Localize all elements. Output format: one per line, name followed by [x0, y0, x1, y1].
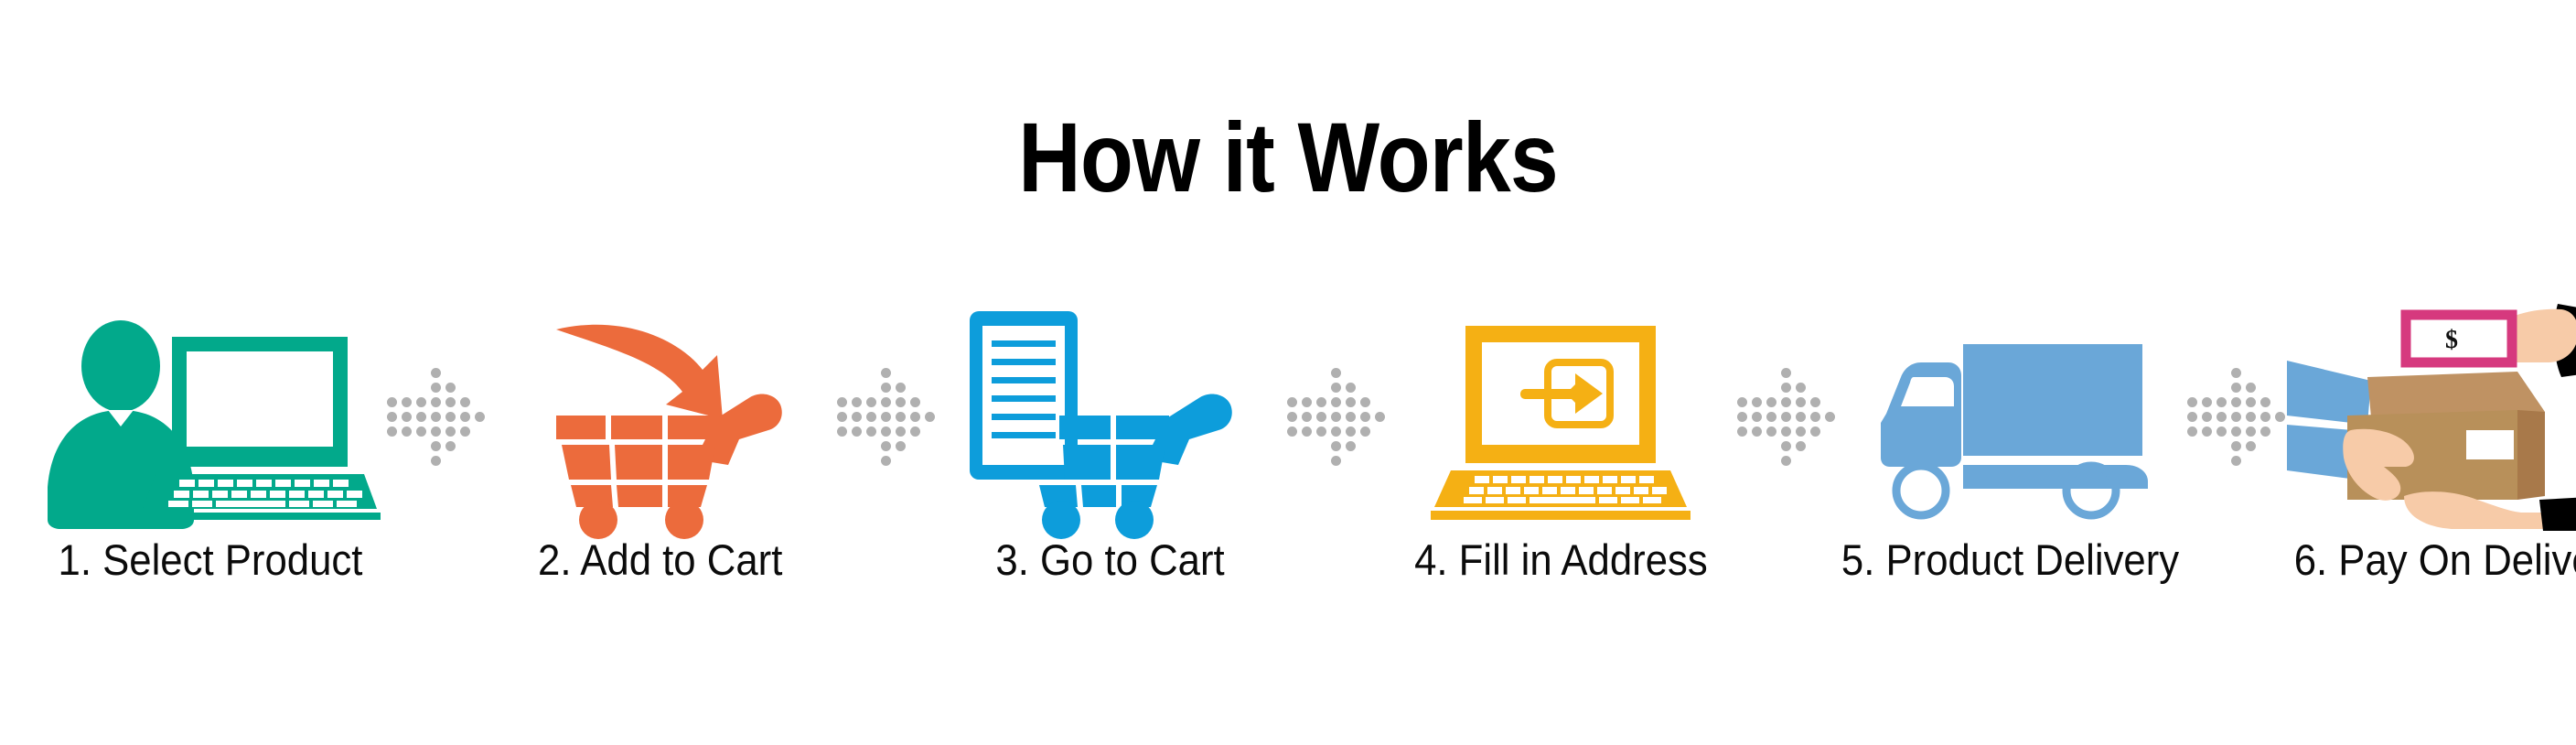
arrow-dot	[1346, 426, 1356, 437]
arrow-dot	[837, 412, 847, 422]
arrow-dot	[881, 441, 891, 451]
arrow-dot-empty	[387, 456, 397, 466]
arrow-dot	[416, 426, 426, 437]
arrow-dot	[896, 397, 906, 407]
arrow-dot	[416, 397, 426, 407]
laptop-with-submit-arrow-icon	[1387, 302, 1734, 531]
arrow-dot-empty	[445, 456, 456, 466]
arrow-dot-empty	[1825, 368, 1835, 378]
arrow-dot	[1781, 383, 1791, 393]
arrow-dot	[1796, 383, 1806, 393]
arrow-dot	[2202, 397, 2212, 407]
arrow-dot-empty	[925, 368, 935, 378]
arrow-dot	[2231, 412, 2241, 422]
arrow-dot	[896, 412, 906, 422]
arrow-dot-empty	[1375, 456, 1385, 466]
arrow-dot-empty	[2187, 441, 2197, 451]
arrow-dot-empty	[852, 368, 862, 378]
arrow-dot	[2231, 383, 2241, 393]
arrow-dot	[387, 412, 397, 422]
arrow-dot-empty	[387, 368, 397, 378]
arrow-dot	[1302, 412, 1312, 422]
arrow-dot-empty	[1737, 383, 1747, 393]
arrow-dot	[445, 397, 456, 407]
arrow-dot	[387, 426, 397, 437]
arrow-dot-empty	[837, 368, 847, 378]
arrow-dot-empty	[2275, 456, 2285, 466]
dotted-arrow-right-icon	[2184, 365, 2287, 468]
arrow-dot	[837, 397, 847, 407]
arrow-dot-empty	[925, 456, 935, 466]
arrow-dot-empty	[837, 441, 847, 451]
arrow-dot-empty	[2187, 383, 2197, 393]
connector-2	[834, 302, 937, 531]
arrow-dot-empty	[1316, 368, 1326, 378]
arrow-dot	[1346, 397, 1356, 407]
arrow-dot-empty	[416, 368, 426, 378]
arrow-dot	[1766, 412, 1776, 422]
arrow-dot-empty	[2260, 383, 2270, 393]
arrow-dot	[1331, 426, 1341, 437]
arrow-dot	[402, 397, 412, 407]
steps-strip: 1. Select Product	[37, 302, 2539, 632]
arrow-dot-empty	[866, 383, 876, 393]
arrow-dot-empty	[925, 383, 935, 393]
arrow-dot-empty	[460, 441, 470, 451]
step-4-fill-in-address[interactable]: 4. Fill in Address	[1387, 302, 1734, 581]
arrow-dot	[1331, 397, 1341, 407]
arrow-dot	[2187, 412, 2197, 422]
arrow-dot-empty	[2275, 368, 2285, 378]
arrow-dot	[881, 412, 891, 422]
arrow-dot	[1302, 397, 1312, 407]
arrow-dot-empty	[460, 456, 470, 466]
arrow-dot-empty	[387, 383, 397, 393]
arrow-dot	[431, 397, 441, 407]
document-with-cart-icon	[937, 302, 1284, 531]
arrow-dot-empty	[1796, 368, 1806, 378]
arrow-dot-empty	[2202, 383, 2212, 393]
arrow-dot	[910, 426, 920, 437]
arrow-dot-empty	[445, 368, 456, 378]
arrow-dot-empty	[2216, 456, 2227, 466]
arrow-dot-empty	[2275, 441, 2285, 451]
arrow-dot-empty	[1287, 441, 1297, 451]
arrow-dot	[896, 441, 906, 451]
arrow-dot	[1316, 412, 1326, 422]
arrow-dot	[1737, 412, 1747, 422]
arrow-dot-empty	[1302, 456, 1312, 466]
arrow-dot-empty	[910, 456, 920, 466]
arrow-dot-empty	[2260, 456, 2270, 466]
arrow-dot-empty	[1810, 456, 1820, 466]
arrow-dot-empty	[1316, 441, 1326, 451]
arrow-dot	[910, 412, 920, 422]
step-5-product-delivery[interactable]: 5. Product Delivery	[1837, 302, 2184, 581]
dotted-arrow-right-icon	[1284, 365, 1387, 468]
arrow-dot	[431, 383, 441, 393]
arrow-dot	[1781, 368, 1791, 378]
arrow-dot-empty	[2216, 383, 2227, 393]
step-3-go-to-cart[interactable]: 3. Go to Cart	[937, 302, 1284, 581]
arrow-dot-empty	[475, 426, 485, 437]
arrow-dot	[1781, 456, 1791, 466]
arrow-dot	[445, 426, 456, 437]
arrow-dot	[2202, 426, 2212, 437]
arrow-dot-empty	[2202, 441, 2212, 451]
arrow-dot-empty	[1825, 441, 1835, 451]
arrow-dot-empty	[460, 368, 470, 378]
arrow-dot-empty	[1302, 383, 1312, 393]
dotted-arrow-right-icon	[384, 365, 487, 468]
step-3-label: 3. Go to Cart	[996, 538, 1225, 581]
person-with-laptop-icon	[37, 302, 384, 531]
arrow-dot	[925, 412, 935, 422]
arrow-dot-empty	[1316, 456, 1326, 466]
arrow-dot	[1796, 441, 1806, 451]
arrow-dot	[460, 426, 470, 437]
arrow-dot-empty	[475, 397, 485, 407]
arrow-dot	[1287, 412, 1297, 422]
hands-exchanging-box-and-cash-icon: $	[2287, 302, 2576, 531]
arrow-dot	[1810, 426, 1820, 437]
dotted-arrow-right-icon	[1734, 365, 1837, 468]
arrow-dot	[1796, 426, 1806, 437]
arrow-dot	[416, 412, 426, 422]
step-6-label: 6. Pay On Delivery	[2294, 538, 2576, 581]
connector-3	[1284, 302, 1387, 531]
arrow-dot	[852, 397, 862, 407]
arrow-dot	[1360, 397, 1370, 407]
arrow-dot	[896, 426, 906, 437]
step-1-label: 1. Select Product	[59, 538, 363, 581]
arrow-dot-empty	[1302, 441, 1312, 451]
arrow-dot	[2246, 397, 2256, 407]
step-1-select-product[interactable]: 1. Select Product	[37, 302, 384, 581]
arrow-dot-empty	[402, 441, 412, 451]
arrow-dot-empty	[2187, 456, 2197, 466]
page-title: How it Works	[155, 108, 2421, 207]
arrow-dot-empty	[1810, 368, 1820, 378]
arrow-dot	[2260, 397, 2270, 407]
arrow-dot	[1346, 441, 1356, 451]
arrow-dot-empty	[1287, 383, 1297, 393]
arrow-dot	[881, 426, 891, 437]
arrow-dot-empty	[2202, 368, 2212, 378]
arrow-dot-empty	[2216, 441, 2227, 451]
arrow-dot	[881, 397, 891, 407]
arrow-dot-empty	[1825, 426, 1835, 437]
arrow-dot	[1737, 397, 1747, 407]
arrow-dot	[2275, 412, 2285, 422]
arrow-dot-empty	[1737, 441, 1747, 451]
arrow-dot-empty	[837, 383, 847, 393]
arrow-dot	[431, 368, 441, 378]
arrow-dot-empty	[1360, 441, 1370, 451]
arrow-dot-empty	[1752, 383, 1762, 393]
arrow-dot	[402, 412, 412, 422]
arrow-dot-empty	[910, 368, 920, 378]
arrow-dot	[910, 397, 920, 407]
arrow-dot	[1316, 426, 1326, 437]
arrow-dot	[387, 397, 397, 407]
arrow-dot	[1752, 397, 1762, 407]
arrow-dot	[866, 397, 876, 407]
arrow-dot	[1331, 441, 1341, 451]
arrow-dot-empty	[852, 383, 862, 393]
arrow-dot-empty	[896, 456, 906, 466]
arrow-dot	[2231, 456, 2241, 466]
arrow-dot-empty	[475, 456, 485, 466]
arrow-dot	[1287, 397, 1297, 407]
arrow-dot-empty	[925, 397, 935, 407]
arrow-dot	[431, 412, 441, 422]
arrow-dot-empty	[1287, 368, 1297, 378]
arrow-dot-empty	[925, 441, 935, 451]
arrow-dot-empty	[866, 456, 876, 466]
arrow-dot	[1766, 426, 1776, 437]
arrow-dot	[852, 412, 862, 422]
connector-1	[384, 302, 487, 531]
arrow-dot-empty	[1766, 383, 1776, 393]
arrow-dot	[881, 383, 891, 393]
arrow-dot	[402, 426, 412, 437]
arrow-dot	[1360, 426, 1370, 437]
arrow-dot	[1287, 426, 1297, 437]
arrow-dot	[460, 397, 470, 407]
connector-5	[2184, 302, 2287, 531]
arrow-dot	[2231, 441, 2241, 451]
arrow-dot	[2246, 441, 2256, 451]
arrow-dot-empty	[1375, 426, 1385, 437]
arrow-dot-empty	[2275, 383, 2285, 393]
arrow-dot	[1375, 412, 1385, 422]
arrow-dot	[896, 383, 906, 393]
arrow-dot-empty	[402, 368, 412, 378]
arrow-dot	[1781, 426, 1791, 437]
arrow-dot-empty	[1766, 441, 1776, 451]
arrow-dot-empty	[1346, 368, 1356, 378]
arrow-dot-empty	[402, 456, 412, 466]
arrow-dot-empty	[2260, 368, 2270, 378]
arrow-dot	[475, 412, 485, 422]
arrow-dot	[1796, 412, 1806, 422]
arrow-dot	[2216, 412, 2227, 422]
arrow-dot-empty	[416, 441, 426, 451]
arrow-dot-empty	[925, 426, 935, 437]
arrow-dot	[1796, 397, 1806, 407]
arrow-dot-empty	[475, 383, 485, 393]
arrow-dot	[1737, 426, 1747, 437]
arrow-dot	[1331, 456, 1341, 466]
arrow-dot-empty	[2202, 456, 2212, 466]
arrow-dot	[866, 426, 876, 437]
arrow-dot	[1825, 412, 1835, 422]
arrow-dot	[1346, 383, 1356, 393]
arrow-dot-empty	[1346, 456, 1356, 466]
arrow-dot-empty	[1375, 368, 1385, 378]
arrow-dot	[2260, 412, 2270, 422]
arrow-dot-empty	[1752, 368, 1762, 378]
arrow-dot-empty	[1810, 441, 1820, 451]
arrow-dot	[1331, 368, 1341, 378]
step-6-pay-on-delivery[interactable]: $	[2287, 302, 2576, 581]
arrow-dot	[881, 456, 891, 466]
arrow-dot	[1766, 397, 1776, 407]
arrow-dot	[1781, 412, 1791, 422]
arrow-dot-empty	[866, 368, 876, 378]
arrow-dot	[460, 412, 470, 422]
arrow-dot	[2202, 412, 2212, 422]
arrow-dot-empty	[1810, 383, 1820, 393]
arrow-dot	[1752, 412, 1762, 422]
arrow-dot	[2231, 426, 2241, 437]
arrow-dot-empty	[2216, 368, 2227, 378]
arrow-dot	[445, 441, 456, 451]
arrow-dot-empty	[1375, 441, 1385, 451]
arrow-dot	[1781, 397, 1791, 407]
arrow-dot	[2216, 397, 2227, 407]
arrow-dot	[2187, 426, 2197, 437]
step-2-label: 2. Add to Cart	[538, 538, 782, 581]
arrow-dot	[1781, 441, 1791, 451]
arrow-dot	[2231, 397, 2241, 407]
arrow-dot	[2260, 426, 2270, 437]
arrow-dot	[866, 412, 876, 422]
step-4-label: 4. Fill in Address	[1414, 538, 1708, 581]
arrow-dot-empty	[852, 456, 862, 466]
infographic-root: How it Works	[0, 0, 2576, 745]
arrow-dot	[431, 456, 441, 466]
arrow-dot-empty	[2246, 456, 2256, 466]
arrow-dot-empty	[910, 441, 920, 451]
arrow-dot-empty	[1302, 368, 1312, 378]
arrow-dot	[2216, 426, 2227, 437]
arrow-dot-empty	[1360, 456, 1370, 466]
arrow-dot-empty	[1752, 441, 1762, 451]
arrow-dot	[1331, 412, 1341, 422]
shopping-cart-with-arrow-icon	[487, 302, 834, 531]
arrow-dot-empty	[460, 383, 470, 393]
arrow-dot-empty	[1825, 456, 1835, 466]
arrow-dot	[2246, 426, 2256, 437]
arrow-dot-empty	[837, 456, 847, 466]
arrow-dot-empty	[416, 456, 426, 466]
arrow-dot-empty	[1752, 456, 1762, 466]
arrow-dot-empty	[2275, 426, 2285, 437]
arrow-dot-empty	[852, 441, 862, 451]
arrow-dot-empty	[1375, 397, 1385, 407]
arrow-dot	[431, 426, 441, 437]
arrow-dot	[431, 441, 441, 451]
arrow-dot	[1360, 412, 1370, 422]
arrow-dot-empty	[1737, 368, 1747, 378]
arrow-dot-empty	[1825, 383, 1835, 393]
arrow-dot	[2246, 412, 2256, 422]
arrow-dot-empty	[1360, 368, 1370, 378]
arrow-dot-empty	[866, 441, 876, 451]
arrow-dot-empty	[416, 383, 426, 393]
arrow-dot	[1316, 397, 1326, 407]
arrow-dot	[2231, 368, 2241, 378]
arrow-dot	[1346, 412, 1356, 422]
arrow-dot	[852, 426, 862, 437]
arrow-dot	[1302, 426, 1312, 437]
dotted-arrow-right-icon	[834, 365, 937, 468]
arrow-dot-empty	[1287, 456, 1297, 466]
arrow-dot	[1810, 412, 1820, 422]
connector-4	[1734, 302, 1837, 531]
arrow-dot-empty	[1766, 456, 1776, 466]
arrow-dot	[837, 426, 847, 437]
arrow-dot-empty	[1796, 456, 1806, 466]
money-symbol: $	[2445, 326, 2458, 354]
step-5-label: 5. Product Delivery	[1841, 538, 2179, 581]
arrow-dot	[1752, 426, 1762, 437]
arrow-dot-empty	[402, 383, 412, 393]
arrow-dot-empty	[896, 368, 906, 378]
arrow-dot-empty	[2260, 441, 2270, 451]
arrow-dot	[2246, 383, 2256, 393]
arrow-dot	[1810, 397, 1820, 407]
arrow-dot-empty	[1375, 383, 1385, 393]
arrow-dot-empty	[475, 441, 485, 451]
arrow-dot	[881, 368, 891, 378]
arrow-dot-empty	[1825, 397, 1835, 407]
arrow-dot-empty	[1360, 383, 1370, 393]
arrow-dot	[445, 383, 456, 393]
arrow-dot-empty	[1766, 368, 1776, 378]
arrow-dot-empty	[1737, 456, 1747, 466]
arrow-dot-empty	[387, 441, 397, 451]
arrow-dot-empty	[475, 368, 485, 378]
arrow-dot	[2187, 397, 2197, 407]
arrow-dot-empty	[2275, 397, 2285, 407]
arrow-dot-empty	[2246, 368, 2256, 378]
arrow-dot	[445, 412, 456, 422]
arrow-dot-empty	[1316, 383, 1326, 393]
arrow-dot	[1331, 383, 1341, 393]
step-2-add-to-cart[interactable]: 2. Add to Cart	[487, 302, 834, 581]
arrow-dot-empty	[2187, 368, 2197, 378]
arrow-dot-empty	[910, 383, 920, 393]
delivery-truck-icon	[1837, 302, 2184, 531]
